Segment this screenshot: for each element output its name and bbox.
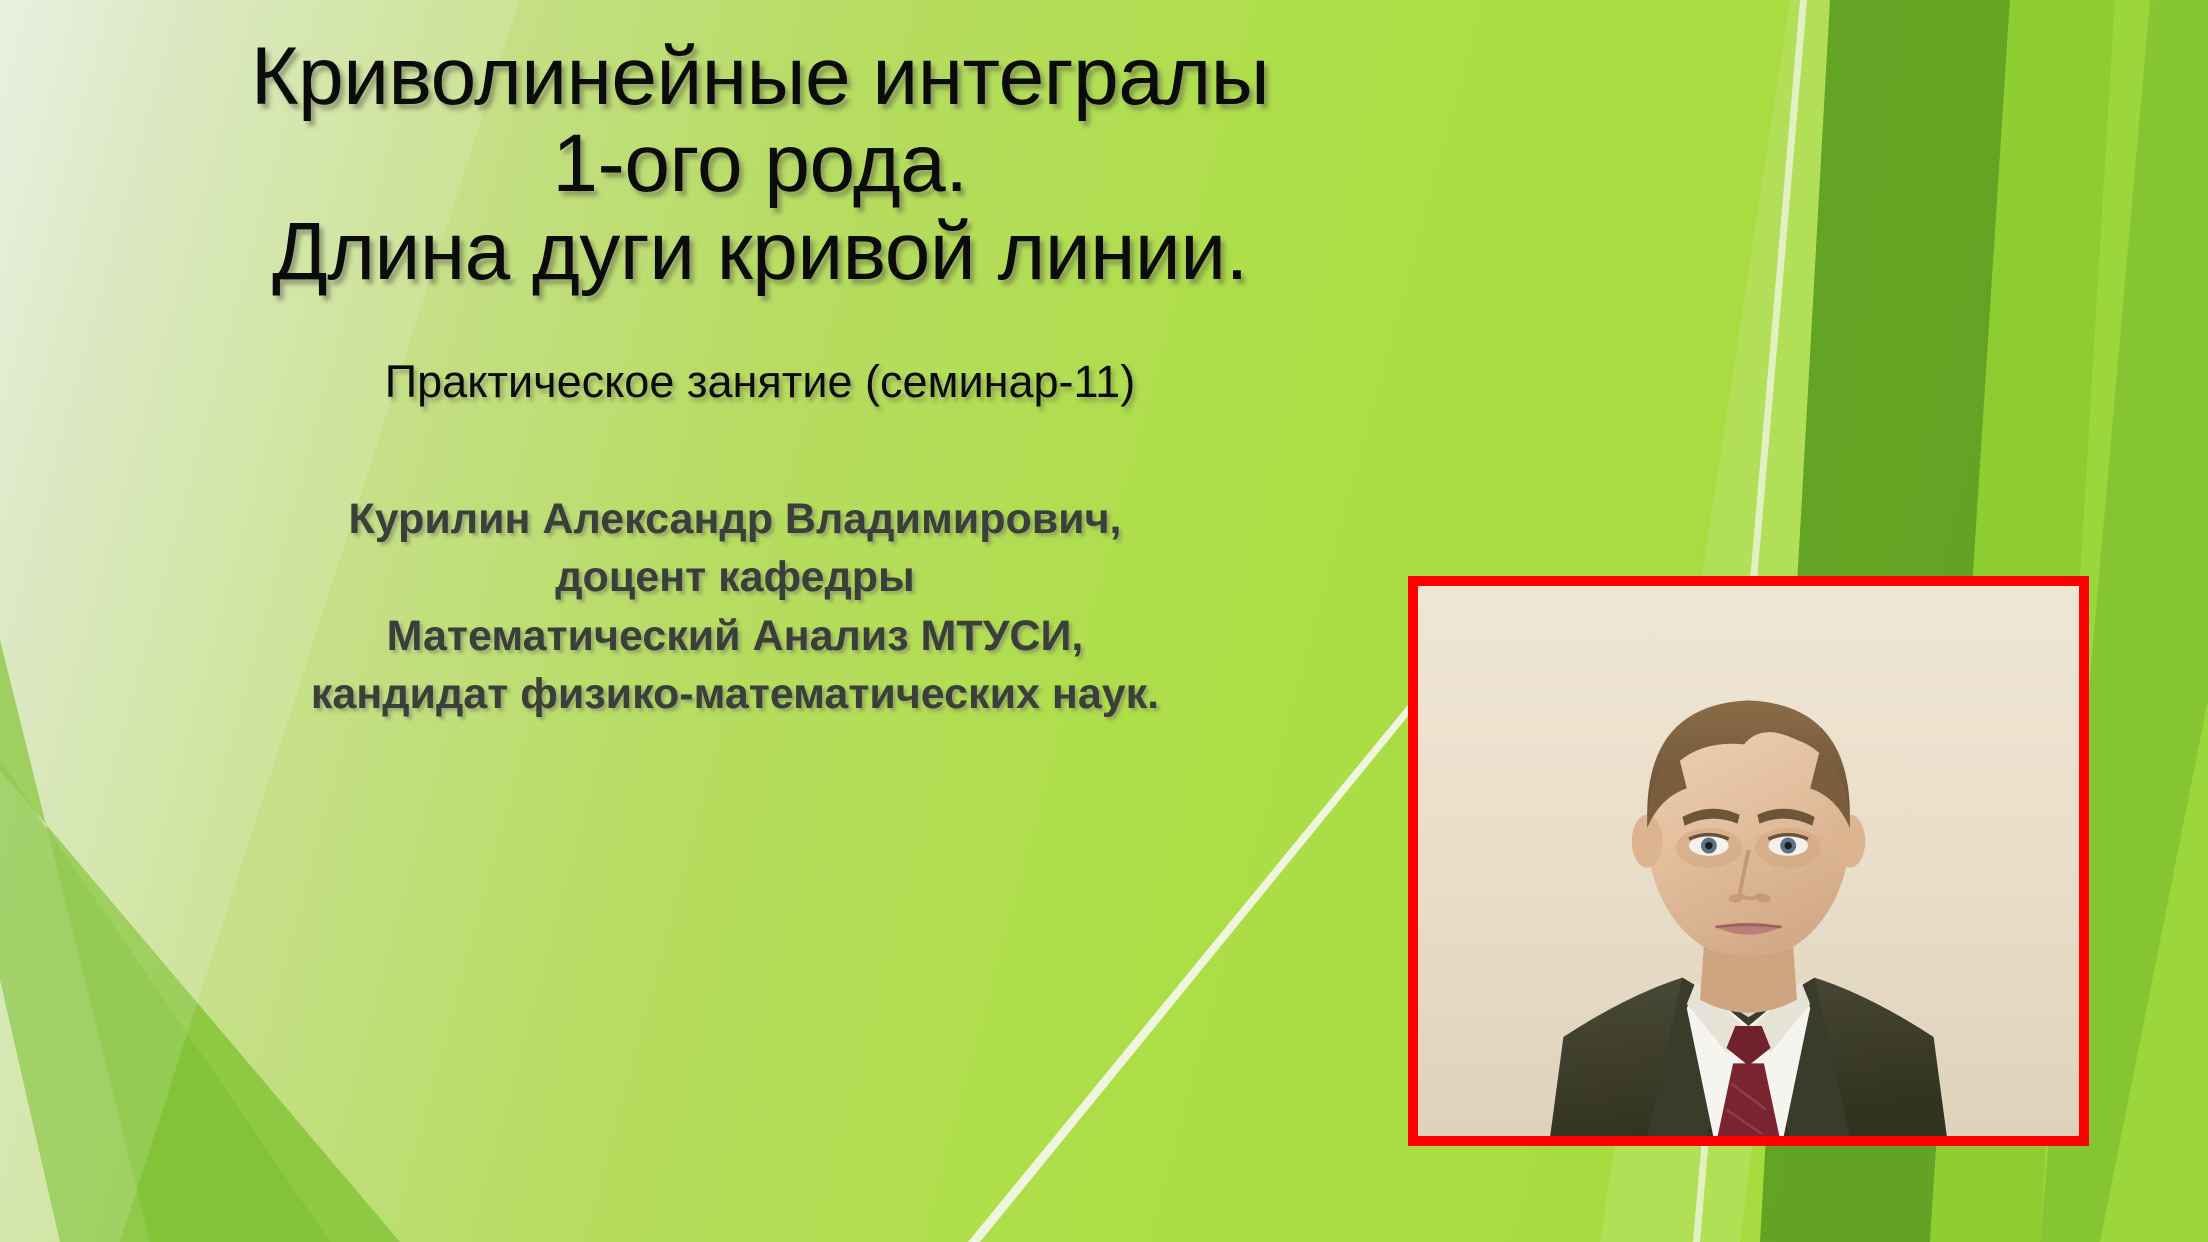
title-line-3: Длина дуги кривой линии. xyxy=(120,209,1400,294)
author-position: доцент кафедры xyxy=(90,548,1380,606)
presentation-slide: Криволинейные интегралы 1-ого рода. Длин… xyxy=(0,0,2208,1242)
slide-title: Криволинейные интегралы 1-ого рода. Длин… xyxy=(120,34,1400,294)
wedge-lower-left-2 xyxy=(0,760,330,1242)
wedge-lower-left xyxy=(0,640,400,1242)
title-line-2: 1-ого рода. xyxy=(120,121,1400,206)
portrait-illustration xyxy=(1418,586,2079,1136)
presenter-photo xyxy=(1418,586,2079,1136)
author-name: Курилин Александр Владимирович, xyxy=(90,490,1380,548)
author-degree: кандидат физико-математических наук. xyxy=(90,665,1380,723)
author-department: Математический Анализ МТУСИ, xyxy=(90,607,1380,665)
title-line-1: Криволинейные интегралы xyxy=(120,34,1400,119)
diagonal-hairline xyxy=(968,690,1426,1242)
presenter-photo-frame xyxy=(1408,576,2089,1146)
slide-subtitle: Практическое занятие (семинар-11) xyxy=(120,356,1400,408)
author-block: Курилин Александр Владимирович, доцент к… xyxy=(90,490,1380,724)
